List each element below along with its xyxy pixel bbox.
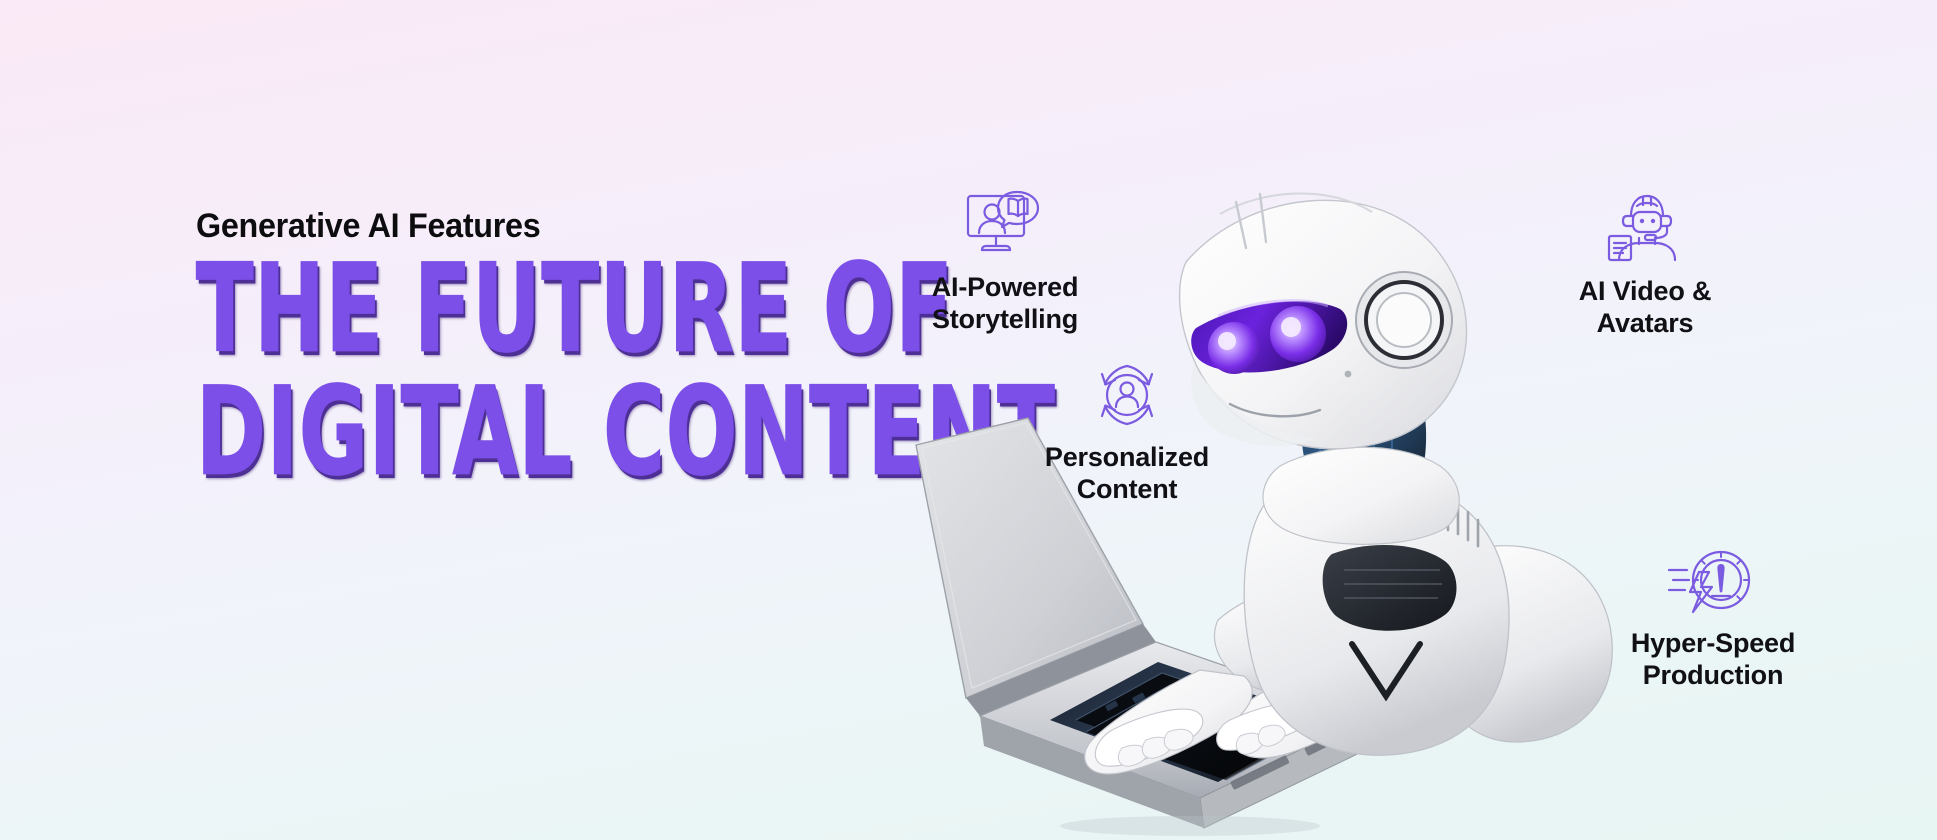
feature-label: Hyper-Speed Production: [1598, 628, 1828, 691]
robot-hands: [1095, 703, 1311, 766]
icon-wrap: [1530, 186, 1760, 272]
headline-block: Generative AI Features THE FUTURE OF DIG…: [196, 208, 956, 485]
monitor-person-book-icon: [962, 186, 1048, 264]
icon-wrap: [890, 182, 1120, 268]
feature-label: AI Video & Avatars: [1530, 276, 1760, 339]
feature-ai-video-avatars[interactable]: AI Video & Avatars: [1530, 186, 1760, 339]
headline-line-1: THE FUTURE OF: [196, 253, 789, 368]
feature-label: Personalized Content: [1012, 442, 1242, 505]
page-title: THE FUTURE OF DIGITAL CONTENT: [196, 259, 956, 484]
person-refresh-cycle-icon: [1087, 356, 1167, 434]
icon-wrap: [1012, 352, 1242, 438]
feature-label: AI-Powered Storytelling: [890, 272, 1120, 335]
avatar-headset-icon: [1603, 190, 1687, 268]
feature-personalized-content[interactable]: Personalized Content: [1012, 352, 1242, 505]
feature-ai-powered-storytelling[interactable]: AI-Powered Storytelling: [890, 182, 1120, 335]
feature-hyper-speed-production[interactable]: Hyper-Speed Production: [1598, 538, 1828, 691]
icon-wrap: [1598, 538, 1828, 624]
speedometer-bolt-icon: [1665, 542, 1761, 620]
headline-line-2: DIGITAL CONTENT: [196, 376, 789, 491]
hero-banner: Generative AI Features THE FUTURE OF DIG…: [0, 0, 1937, 840]
